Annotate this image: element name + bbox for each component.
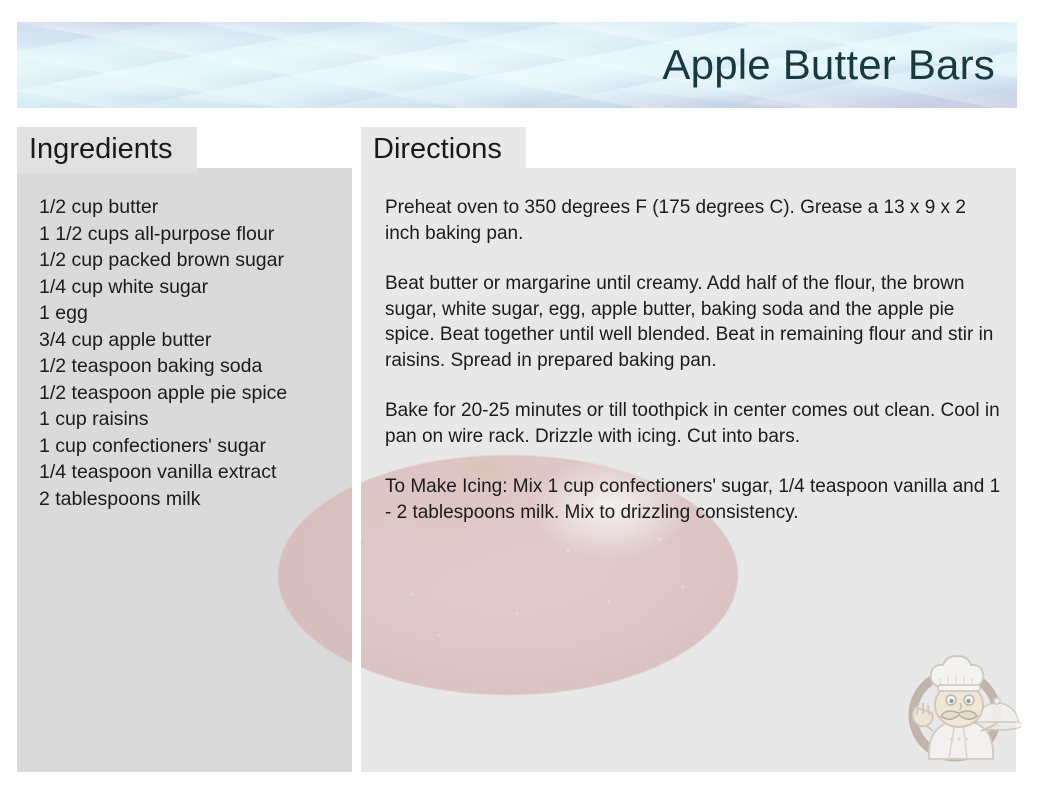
- direction-paragraph: Beat butter or margarine until creamy. A…: [385, 271, 1003, 373]
- direction-paragraph: To Make Icing: Mix 1 cup confectioners' …: [385, 474, 1003, 525]
- ingredient-item: 1/4 cup white sugar: [39, 274, 339, 301]
- column-gutter: [352, 168, 361, 772]
- ingredient-item: 1 1/2 cups all-purpose flour: [39, 221, 339, 248]
- ingredient-item: 3/4 cup apple butter: [39, 327, 339, 354]
- ingredients-heading: Ingredients: [17, 127, 197, 173]
- ingredient-item: 1/2 cup packed brown sugar: [39, 247, 339, 274]
- ingredient-item: 1/2 teaspoon apple pie spice: [39, 380, 339, 407]
- page-title: Apple Butter Bars: [662, 44, 995, 86]
- ingredient-item: 1/4 teaspoon vanilla extract: [39, 459, 339, 486]
- ingredient-item: 1 egg: [39, 300, 339, 327]
- ingredient-item: 1 cup confectioners' sugar: [39, 433, 339, 460]
- header-banner: Apple Butter Bars: [17, 22, 1017, 108]
- ingredient-item: 2 tablespoons milk: [39, 486, 339, 513]
- directions-heading: Directions: [361, 127, 526, 173]
- directions-text: Preheat oven to 350 degrees F (175 degre…: [385, 195, 1003, 525]
- direction-paragraph: Bake for 20-25 minutes or till toothpick…: [385, 398, 1003, 449]
- recipe-slide: Apple Butter Bars Ingredients Directions…: [0, 0, 1046, 792]
- chef-mascot-logo: [893, 643, 1021, 771]
- ingredient-item: 1/2 teaspoon baking soda: [39, 353, 339, 380]
- ingredient-item: 1/2 cup butter: [39, 194, 339, 221]
- ingredients-list: 1/2 cup butter1 1/2 cups all-purpose flo…: [39, 194, 339, 512]
- direction-paragraph: Preheat oven to 350 degrees F (175 degre…: [385, 195, 1003, 246]
- ingredient-item: 1 cup raisins: [39, 406, 339, 433]
